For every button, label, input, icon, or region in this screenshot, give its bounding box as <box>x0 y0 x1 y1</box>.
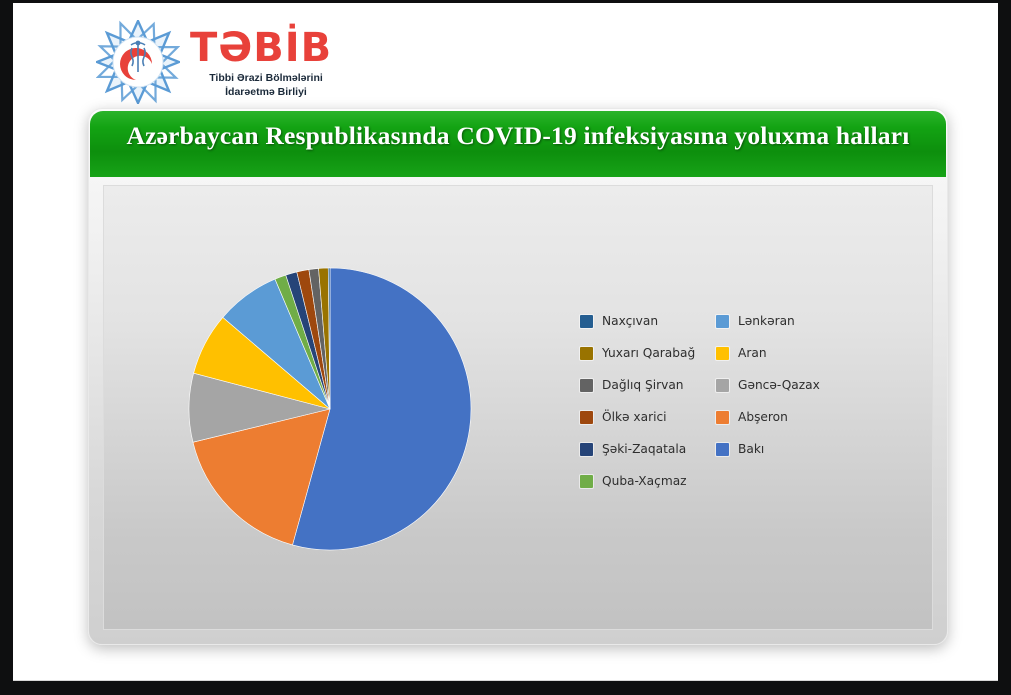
chart-plot-area: Naxçıvan Lənkəran Yuxarı Qarabağ Aran Da… <box>103 185 933 630</box>
tabib-subtitle: Tibbi Ərazi Bölmələrini İdarəetmə Birliy… <box>190 72 342 99</box>
legend-item[interactable]: Ölkə xarici <box>580 410 716 425</box>
legend-label: Quba-Xaçmaz <box>602 475 687 487</box>
legend-swatch-naxcivan <box>580 315 593 328</box>
legend-item[interactable]: Yuxarı Qarabağ <box>580 346 716 361</box>
legend-item[interactable]: Bakı <box>716 442 852 457</box>
legend-item[interactable]: Quba-Xaçmaz <box>580 474 716 489</box>
legend-swatch-lenkeran <box>716 315 729 328</box>
legend-label: Dağlıq Şirvan <box>602 379 684 391</box>
legend-item[interactable]: Gəncə-Qazax <box>716 378 852 393</box>
slide-title-bar: Azərbaycan Respublikasında COVID-19 infe… <box>90 111 946 177</box>
legend-swatch-yuxari-qarabag <box>580 347 593 360</box>
window-top-border <box>0 0 1011 3</box>
window-right-border <box>998 0 1011 695</box>
tabib-name: TƏBİB <box>190 28 342 68</box>
legend-item[interactable]: Abşeron <box>716 410 852 425</box>
legend-item[interactable]: Şəki-Zaqatala <box>580 442 716 457</box>
legend-label: Lənkəran <box>738 315 795 327</box>
legend-label: Yuxarı Qarabağ <box>602 347 695 359</box>
tabib-wordmark: TƏBİB Tibbi Ərazi Bölmələrini İdarəetmə … <box>190 24 342 99</box>
legend-label: Şəki-Zaqatala <box>602 443 686 455</box>
legend-label: Bakı <box>738 443 764 455</box>
legend-item[interactable]: Dağlıq Şirvan <box>580 378 716 393</box>
tabib-logo: TƏBİB Tibbi Ərazi Bölmələrini İdarəetmə … <box>96 16 386 108</box>
legend-label: Abşeron <box>738 411 788 423</box>
page-divider <box>13 680 998 681</box>
slide-title: Azərbaycan Respublikasında COVID-19 infe… <box>90 119 946 152</box>
legend-swatch-baki <box>716 443 729 456</box>
legend-label: Aran <box>738 347 767 359</box>
legend-swatch-dagliq-sirvan <box>580 379 593 392</box>
legend-swatch-olke-xarici <box>580 411 593 424</box>
legend-label: Ölkə xarici <box>602 411 667 423</box>
legend-label: Naxçıvan <box>602 315 658 327</box>
chart-legend: Naxçıvan Lənkəran Yuxarı Qarabağ Aran Da… <box>580 314 910 489</box>
slide-card: Azərbaycan Respublikasında COVID-19 infe… <box>88 108 948 645</box>
window-left-border <box>0 0 13 695</box>
pie-chart: Naxçıvan Lənkəran Yuxarı Qarabağ Aran Da… <box>104 186 932 629</box>
window-bottom-border <box>0 681 1011 695</box>
tabib-subtitle-line1: Tibbi Ərazi Bölmələrini <box>209 72 323 84</box>
legend-swatch-quba-xacmaz <box>580 475 593 488</box>
tabib-subtitle-line2: İdarəetmə Birliyi <box>225 86 307 98</box>
legend-swatch-abseron <box>716 411 729 424</box>
legend-item[interactable]: Lənkəran <box>716 314 852 329</box>
legend-item[interactable]: Naxçıvan <box>580 314 716 329</box>
legend-label: Gəncə-Qazax <box>738 379 820 391</box>
tabib-star-icon <box>96 20 180 104</box>
legend-swatch-seki-zaqatala <box>580 443 593 456</box>
legend-swatch-aran <box>716 347 729 360</box>
legend-item[interactable]: Aran <box>716 346 852 361</box>
legend-swatch-gence-qazax <box>716 379 729 392</box>
